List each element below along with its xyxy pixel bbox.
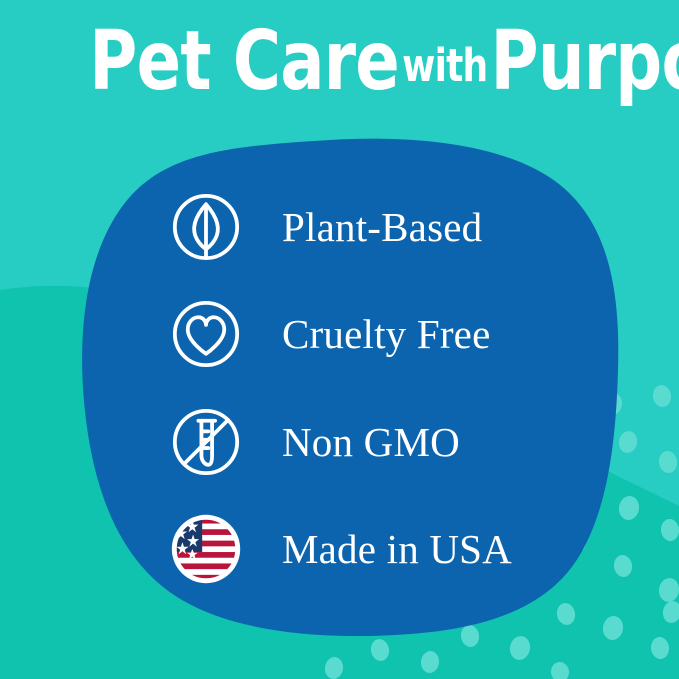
badge-row-non-gmo: Non GMO	[168, 396, 460, 488]
badge-label-plant-based: Plant-Based	[282, 205, 482, 249]
badge-label-made-in-usa: Made in USA	[282, 527, 512, 571]
badge-label-non-gmo: Non GMO	[282, 420, 460, 464]
badge-row-plant-based: Plant-Based	[168, 181, 482, 273]
badge-row-made-in-usa: Made in USA	[168, 503, 512, 595]
no-gmo-test-tube-icon	[168, 404, 244, 480]
heart-in-circle-icon	[168, 296, 244, 372]
badge-list: Plant-Based Cruelty Free	[0, 0, 679, 679]
badge-row-cruelty-free: Cruelty Free	[168, 288, 490, 380]
leaf-in-circle-icon	[168, 189, 244, 265]
usa-flag-circle-icon	[168, 511, 244, 587]
badge-label-cruelty-free: Cruelty Free	[282, 312, 490, 356]
pet-care-with-purpose-graphic: Pet CarewithPurpose® Plant-Based Cruelty…	[0, 0, 679, 679]
